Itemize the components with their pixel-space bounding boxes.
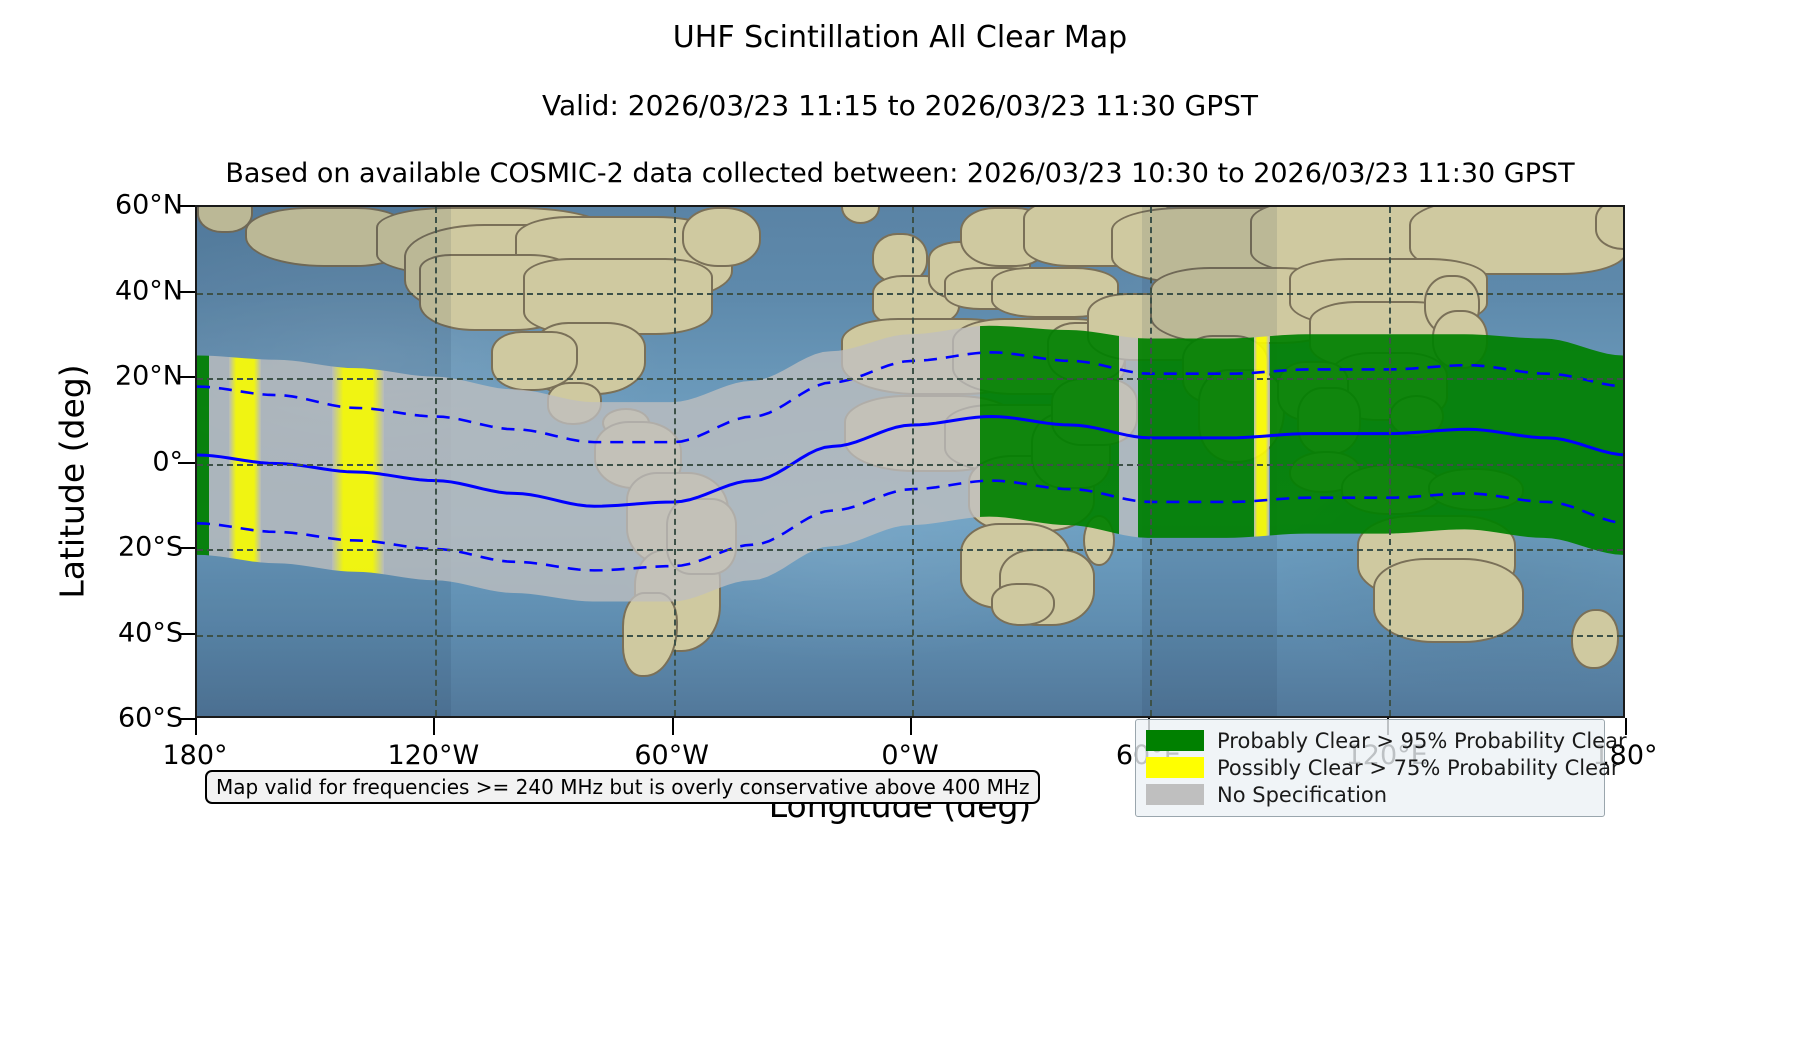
envelope-south-curve: [197, 481, 1625, 571]
map-plot-area: [195, 205, 1625, 718]
x-axis-tick: [672, 718, 674, 735]
y-axis-tick-label: 40°S: [23, 617, 183, 648]
legend-label-possibly-clear: Possibly Clear > 75% Probability Clear: [1217, 756, 1620, 780]
page-title: UHF Scintillation All Clear Map: [0, 20, 1800, 55]
gridline-latitude: [197, 635, 1623, 637]
legend-swatch-no-specification: [1146, 784, 1204, 805]
y-axis-tick-label: 20°S: [23, 532, 183, 563]
gridline-latitude: [197, 293, 1623, 295]
gridline-latitude: [197, 464, 1623, 466]
legend-swatch-probably-clear: [1146, 730, 1204, 751]
y-axis-tick-label: 60°N: [23, 190, 183, 221]
legend-label-probably-clear: Probably Clear > 95% Probability Clear: [1217, 729, 1627, 753]
gridline-longitude: [435, 207, 437, 716]
gridline-latitude: [197, 549, 1623, 551]
legend-swatch-possibly-clear: [1146, 757, 1204, 778]
legend-item-possibly-clear: Possibly Clear > 75% Probability Clear: [1146, 754, 1594, 781]
dip-equator-curve: [197, 416, 1625, 506]
envelope-north-curve: [197, 352, 1625, 442]
legend: Probably Clear > 95% Probability ClearPo…: [1135, 719, 1605, 817]
y-axis-tick-label: 60°S: [23, 703, 183, 734]
y-axis-tick-label: 20°N: [23, 361, 183, 392]
figure: UHF Scintillation All Clear Map Valid: 2…: [0, 0, 1800, 1050]
x-axis-tick: [433, 718, 435, 735]
data-source-subtitle: Based on available COSMIC-2 data collect…: [0, 158, 1800, 189]
y-axis-tick-label: 0°: [23, 446, 183, 477]
dip-equator-curves: [197, 207, 1625, 718]
footnote-box: Map valid for frequencies >= 240 MHz but…: [205, 770, 1040, 804]
x-axis-tick-label: 180°: [95, 740, 295, 771]
legend-label-no-specification: No Specification: [1217, 783, 1387, 807]
gridline-longitude: [912, 207, 914, 716]
gridline-latitude: [197, 378, 1623, 380]
y-axis-tick-label: 40°N: [23, 275, 183, 306]
y-axis-label: Latitude (deg): [53, 222, 92, 742]
gridline-longitude: [1389, 207, 1391, 716]
legend-item-no-specification: No Specification: [1146, 781, 1594, 808]
gridline-longitude: [1150, 207, 1152, 716]
validity-subtitle: Valid: 2026/03/23 11:15 to 2026/03/23 11…: [0, 89, 1800, 122]
legend-item-probably-clear: Probably Clear > 95% Probability Clear: [1146, 727, 1594, 754]
x-axis-tick-label: 60°W: [572, 740, 772, 771]
x-axis-tick-label: 120°W: [333, 740, 533, 771]
x-axis-tick: [195, 718, 197, 735]
x-axis-tick-label: 0°W: [810, 740, 1010, 771]
gridline-longitude: [674, 207, 676, 716]
x-axis-tick: [910, 718, 912, 735]
